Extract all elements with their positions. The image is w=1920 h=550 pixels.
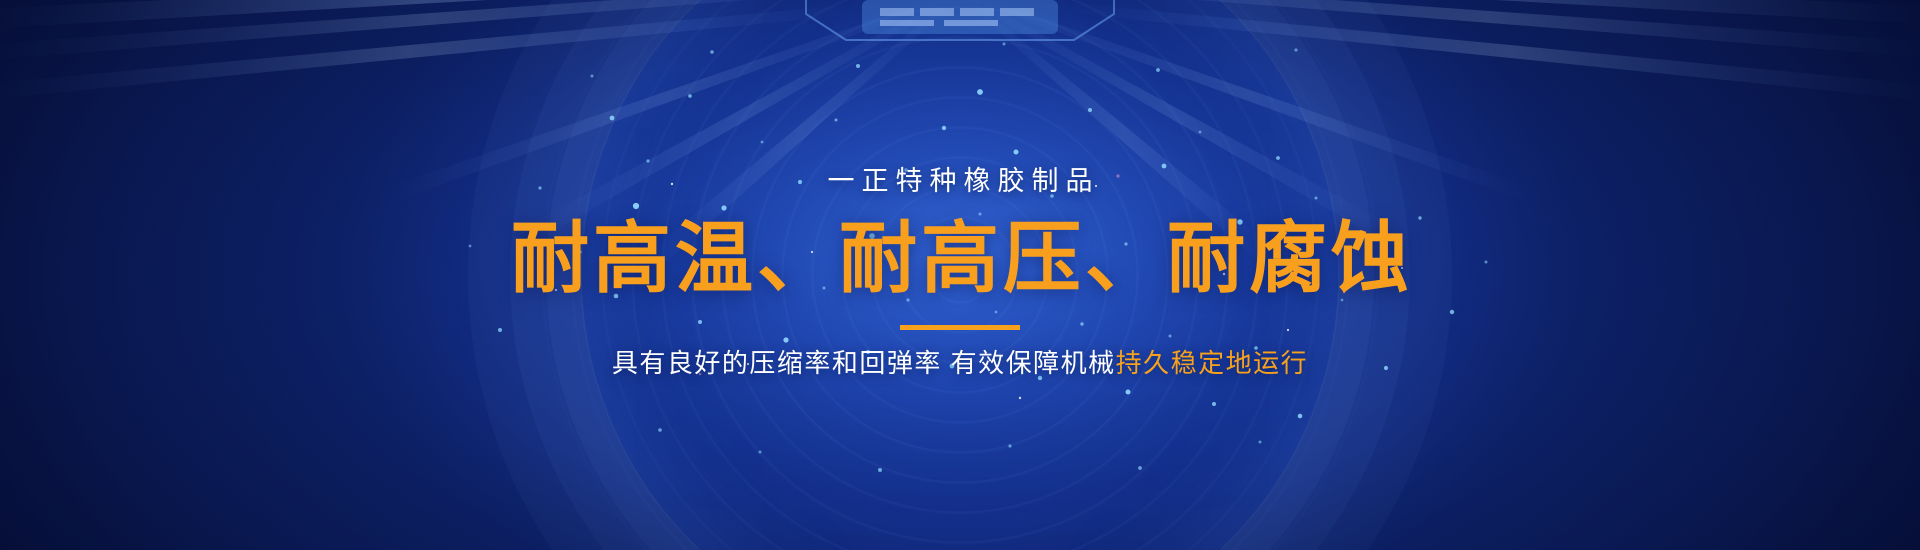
- hero-tagline: 具有良好的压缩率和回弹率 有效保障机械持久稳定地运行: [612, 350, 1308, 376]
- tagline-white-part: 具有良好的压缩率和回弹率 有效保障机械: [612, 348, 1116, 378]
- headline-divider: [900, 325, 1020, 330]
- hero-banner: 一正特种橡胶制品 耐高温、耐高压、耐腐蚀 具有良好的压缩率和回弹率 有效保障机械…: [0, 0, 1920, 550]
- brand-eyebrow: 一正特种橡胶制品: [828, 168, 1100, 195]
- hero-headline: 耐高温、耐高压、耐腐蚀: [511, 217, 1413, 300]
- tagline-orange-part: 持久稳定地运行: [1116, 348, 1309, 378]
- hero-content: 一正特种橡胶制品 耐高温、耐高压、耐腐蚀 具有良好的压缩率和回弹率 有效保障机械…: [0, 0, 1920, 550]
